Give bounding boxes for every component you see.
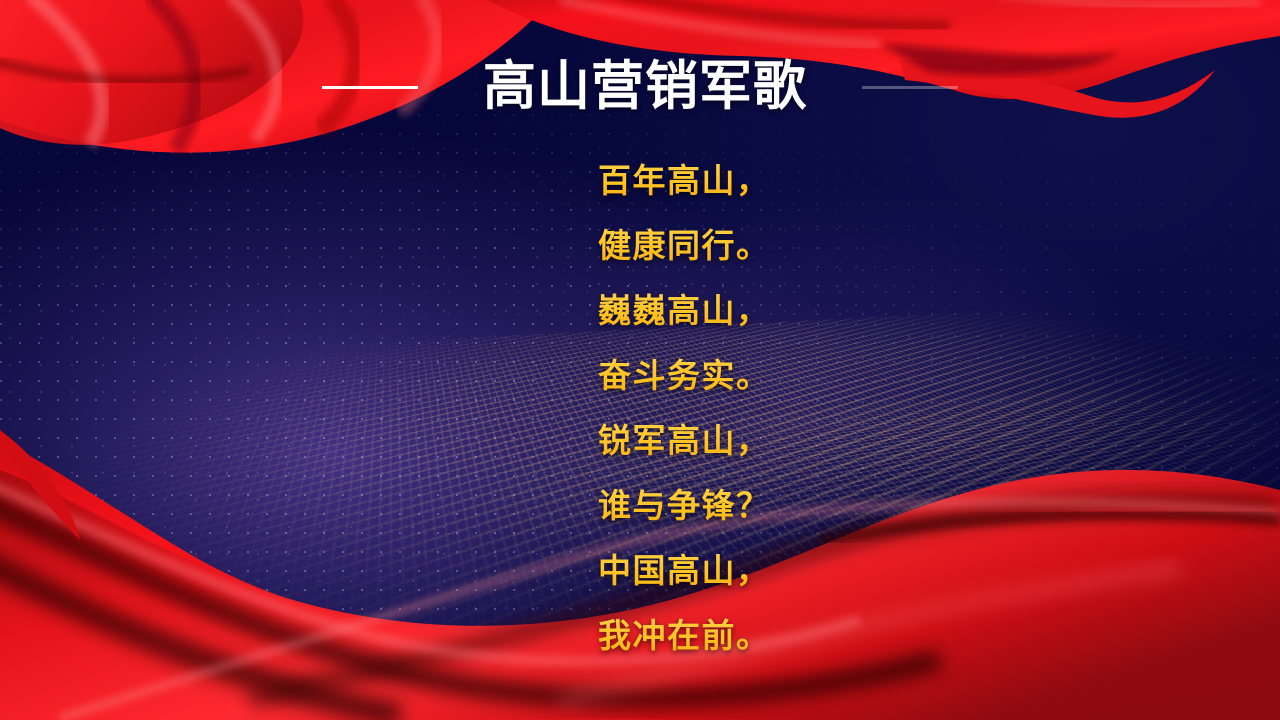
lyric-line: 健康同行。 xyxy=(598,223,918,288)
title-rule-left-icon xyxy=(322,86,418,89)
page-title: 高山营销军歌 xyxy=(455,55,835,119)
lyric-line: 中国高山， xyxy=(598,548,918,613)
lyrics-block: 百年高山， 健康同行。 巍巍高山， 奋斗务实。 锐军高山， 谁与争锋？ 中国高山… xyxy=(598,158,918,678)
lyric-line: 奋斗务实。 xyxy=(598,353,918,418)
presentation-slide: 高山营销军歌 百年高山， 健康同行。 巍巍高山， 奋斗务实。 锐军高山， 谁与争… xyxy=(0,0,1280,720)
lyric-line: 百年高山， xyxy=(598,158,918,223)
lyric-line: 锐军高山， xyxy=(598,418,918,483)
lyric-line: 巍巍高山， xyxy=(598,288,918,353)
title-rule-right-icon xyxy=(862,86,958,89)
lyric-line: 谁与争锋？ xyxy=(598,483,918,548)
title-row: 高山营销军歌 xyxy=(0,55,1280,127)
lyric-line: 我冲在前。 xyxy=(598,613,918,678)
